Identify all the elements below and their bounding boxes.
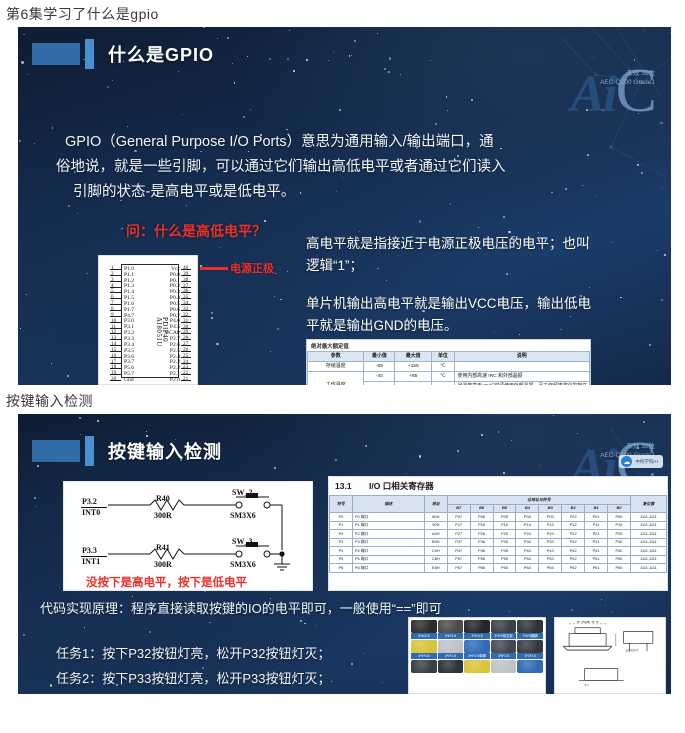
register-cell: P07: [447, 513, 470, 522]
tactile-switch-photo: [464, 640, 490, 653]
datasheet-cell: +85: [395, 372, 432, 382]
chip-pin-lead: [110, 298, 121, 299]
drawing-svg: 4.7 安装孔尺寸 6.1: [555, 618, 665, 693]
register-cell: P6 端口: [352, 564, 424, 573]
register-cell: P25: [493, 530, 516, 539]
product-photo-caption: 3*6*2.5: [491, 653, 517, 659]
register-cell: P16: [470, 521, 493, 530]
product-photo-cell: 3*6*2.5: [491, 640, 517, 659]
tactile-switch-photo: [517, 620, 543, 633]
datasheet-cell: -55: [364, 362, 395, 372]
chip-pin-lead: [110, 345, 121, 346]
chip-pin-number: 21: [183, 376, 188, 382]
svg-text:4.7: 4.7: [585, 620, 589, 624]
register-cell: P06: [470, 513, 493, 522]
register-cell: P1 端口: [352, 521, 424, 530]
chip-pin-lead: [181, 287, 191, 288]
product-photo-caption: 4*4*1.5: [438, 653, 464, 659]
logo-text-c: C: [616, 57, 657, 125]
register-cell: P32: [562, 538, 585, 547]
register-cell: P13: [539, 521, 562, 530]
table-row: P1P1 端口90HP17P16P15P14P13P12P11P101111,1…: [330, 521, 667, 530]
switch-mechanical-drawing: 4.7 安装孔尺寸 6.1: [554, 617, 666, 694]
chip-pin-lead: [181, 374, 191, 375]
logo-subtitle-1: 车规 32位: [626, 69, 655, 78]
chip-pin-lead: [181, 298, 191, 299]
register-bit-header-cell: B3: [539, 504, 562, 513]
register-cell: A0H: [424, 530, 447, 539]
register-cell: P66: [470, 564, 493, 573]
chip-pin-lead: [181, 328, 191, 329]
register-cell: P6: [330, 564, 353, 573]
chip-pin-number: 20: [111, 376, 116, 382]
product-photo-cell: 3*6*3.5: [438, 620, 464, 639]
table-row: P0P0 端口80HP07P06P05P04P03P02P01P001111,1…: [330, 513, 667, 522]
register-cell: P5: [330, 555, 353, 564]
absolute-maximum-ratings-card: 绝对最大额定值 参数最小值最大值单位说明 存储温度-55+155℃工作温度-40…: [306, 339, 591, 385]
product-photo-caption: 3*6*5带支架: [491, 633, 517, 639]
register-cell: P57: [447, 555, 470, 564]
chip-pin-lead: [181, 292, 191, 293]
register-cell: P15: [493, 521, 516, 530]
register-cell: P63: [539, 564, 562, 573]
product-photo-caption: 3*6x2.5: [411, 633, 437, 639]
product-photo-cell: 4*4*0.8: [411, 640, 437, 659]
datasheet-header-cell: 最小值: [364, 352, 395, 362]
chip-pin-lead: [181, 351, 191, 352]
power-positive-arrow-icon: [200, 267, 228, 270]
chip-pinout-diagram: AI8051U PDIP40 1P1.02P1.13P1.24P1.35P1.4…: [98, 255, 198, 385]
register-cell: P01: [585, 513, 608, 522]
register-col-addr: 地址: [424, 496, 447, 513]
chip-pin-lead: [181, 380, 191, 381]
register-cell: 1111,1111: [630, 538, 666, 547]
datasheet-header-cell: 说明: [454, 352, 589, 362]
chip-pin-lead: [110, 304, 121, 305]
register-cell: P2: [330, 530, 353, 539]
title-tile-small-icon: [85, 39, 94, 69]
datasheet-table-title: 绝对最大额定值: [307, 340, 590, 351]
register-bit-header-cell: B2: [562, 504, 585, 513]
register-cell: P02: [562, 513, 585, 522]
product-photo-cell: [517, 660, 543, 673]
product-photo-cell: 4*4*1.5: [438, 640, 464, 659]
chip-pin-lead: [110, 368, 121, 369]
watermark-badge: ☁ 中构学院A+: [619, 455, 663, 468]
register-table-body: P0P0 端口80HP07P06P05P04P03P02P01P001111,1…: [330, 513, 667, 573]
slide-2-title: 按键输入检测: [108, 438, 222, 464]
chip-pin-lead: [110, 363, 121, 364]
datasheet-cell: 使用内部高速 IRC 和外部晶振: [454, 372, 589, 382]
tactile-switch-photo: [491, 640, 517, 653]
register-cell: P05: [493, 513, 516, 522]
title-tile-large-icon-2: [32, 440, 80, 462]
register-cell: P3: [330, 538, 353, 547]
product-photo-cell: [438, 660, 464, 673]
register-cell: P67: [447, 564, 470, 573]
register-cell: 1111,1111: [630, 564, 666, 573]
chip-pin-lead: [181, 333, 191, 334]
tactile-switch-photo: [491, 620, 517, 633]
datasheet-cell: 存储温度: [308, 362, 364, 372]
chip-pin-lead: [110, 380, 121, 381]
register-cell: P21: [585, 530, 608, 539]
register-cell: P33: [539, 538, 562, 547]
product-photo-cell: 3*4*2.5: [517, 640, 543, 659]
register-cell: P40: [608, 547, 631, 556]
register-cell: P64: [516, 564, 539, 573]
register-cell: P44: [516, 547, 539, 556]
circuit-level-note: 没按下是高电平，按下是低电平: [86, 574, 247, 590]
circuit-port-2: P3.3: [82, 546, 97, 555]
datasheet-header-cell: 单位: [432, 352, 455, 362]
register-cell: P04: [516, 513, 539, 522]
datasheet-body: 存储温度-55+155℃工作温度-40+85℃使用内部高速 IRC 和外部晶振-…: [308, 362, 590, 386]
slide-2-title-row: 按键输入检测: [32, 436, 222, 466]
register-cell: P22: [562, 530, 585, 539]
chip-pin-lead: [181, 269, 191, 270]
datasheet-cell: [454, 362, 589, 372]
tactile-switch-photo: [438, 640, 464, 653]
register-cell: P3 端口: [352, 538, 424, 547]
register-cell: 80H: [424, 513, 447, 522]
chip-pin-name: P2.0: [161, 377, 180, 383]
register-cell: P62: [562, 564, 585, 573]
product-photo-caption: 3*6*4.5: [464, 633, 490, 639]
io-register-table: 符号 描述 地址 位地址与符号 复位值 B7B6B5B4B3B2B1B0 P0P…: [329, 495, 667, 573]
register-cell: 1111,1111: [630, 555, 666, 564]
datasheet-cell: +155: [395, 362, 432, 372]
chip-pin-lead: [181, 281, 191, 282]
product-photo-cell: [464, 660, 490, 673]
cloud-icon: ☁: [621, 456, 632, 467]
datasheet-cell: ℃: [432, 382, 455, 386]
task-line-1: 任务1：按下P32按钮灯亮，松开P32按钮灯灭；: [56, 641, 331, 666]
circuit-switch-2-part: SM3X6: [230, 560, 256, 569]
register-header-row-1: 符号 描述 地址 位地址与符号 复位值: [330, 496, 667, 505]
register-cell: P43: [539, 547, 562, 556]
register-cell: P50: [608, 555, 631, 564]
svg-text:6.1: 6.1: [585, 683, 589, 687]
register-cell: 90H: [424, 521, 447, 530]
register-bit-header-cell: B0: [608, 504, 631, 513]
table-row: P6P6 端口E8HP67P66P65P64P63P62P61P601111,1…: [330, 564, 667, 573]
logo-text-ai: Ai: [571, 66, 616, 123]
register-col-symbol: 符号: [330, 496, 353, 513]
tactile-switch-photo: [411, 660, 437, 673]
datasheet-cell: 工作温度: [308, 372, 364, 386]
chip-pin-lead: [110, 374, 121, 375]
register-cell: P30: [608, 538, 631, 547]
register-bit-header-cell: B7: [447, 504, 470, 513]
register-cell: P55: [493, 555, 516, 564]
tactile-switch-photo: [491, 660, 517, 673]
slide-key-input: AiC 车规 32位 AEC-Q100 Grade1 ☁ 中构学院A+ 按键输入…: [18, 414, 671, 694]
circuit-resistor-2-ref: R41: [156, 543, 170, 552]
register-col-desc: 描述: [352, 496, 424, 513]
table-row: P4P4 端口C0HP47P46P45P44P43P42P41P401111,1…: [330, 547, 667, 556]
chip-pin-lead: [181, 363, 191, 364]
vcc-gnd-explanation-line-1: 单片机输出高电平就是输出VCC电压，输出低电: [306, 293, 591, 315]
chip-pin-lead: [181, 304, 191, 305]
chip-pin-lead: [181, 310, 191, 311]
register-cell: P42: [562, 547, 585, 556]
datasheet-cell: 当温度高于 85℃时请使用外部晶振，且工作频率建议控制在 24M 以下: [454, 382, 589, 386]
chip-pin-lead: [110, 339, 121, 340]
register-col-bitgroup: 位地址与符号: [447, 496, 630, 505]
register-cell: P4: [330, 547, 353, 556]
register-bit-header-cell: B5: [493, 504, 516, 513]
table-row: P5P5 端口C8HP57P56P55P54P53P52P51P501111,1…: [330, 555, 667, 564]
tactile-switch-photo: [464, 660, 490, 673]
register-cell: 1111,1111: [630, 513, 666, 522]
register-cell: P03: [539, 513, 562, 522]
table-row: 存储温度-55+155℃: [308, 362, 590, 372]
register-cell: P37: [447, 538, 470, 547]
chip-pin-lead: [181, 345, 191, 346]
register-cell: B0H: [424, 538, 447, 547]
chip-pin-lead: [110, 333, 121, 334]
product-photo-cell: 3*6*2.5单脚: [464, 640, 490, 659]
chip-pin-lead: [181, 368, 191, 369]
svg-text:安装孔尺寸: 安装孔尺寸: [626, 648, 639, 652]
product-grid: 3*6x2.53*6*3.53*6*4.53*6*5带支架3*6*5圆脚4*4*…: [409, 618, 545, 675]
register-cell: P61: [585, 564, 608, 573]
register-cell: C0H: [424, 547, 447, 556]
register-section-title: I/O 口相关寄存器: [369, 481, 434, 491]
gpio-question: 问：什么是高低电平？: [126, 221, 266, 241]
register-bit-header-cell: B1: [585, 504, 608, 513]
chip-pin-name: Gnd: [124, 377, 134, 383]
gpio-body-line-3: 引脚的状态-是高电平或是低电平。: [73, 180, 295, 205]
key-circuit-schematic: P3.2 INT0 R40 300R SW_2 SM3X6: [63, 481, 313, 591]
gpio-body-line-2: 俗地说，就是一些引脚，可以通过它们输出高低电平或者通过它们读入: [56, 155, 506, 180]
datasheet-header-row: 参数最小值最大值单位说明: [308, 352, 590, 362]
register-bit-header-cell: B4: [516, 504, 539, 513]
register-cell: P12: [562, 521, 585, 530]
network-lines-decoration: [411, 27, 671, 207]
title-tile-large-icon: [32, 43, 80, 65]
high-level-explanation-line-1: 高电平就是指接近于电源正极电压的电平；也叫: [306, 233, 590, 255]
register-cell: 1111,1111: [630, 521, 666, 530]
register-cell: P1: [330, 521, 353, 530]
chip-pin-lead: [110, 357, 121, 358]
tactile-switch-photo: [411, 620, 437, 633]
register-cell: P31: [585, 538, 608, 547]
product-photo-cell: [411, 660, 437, 673]
tactile-switch-photo-grid: 3*6x2.53*6*3.53*6*4.53*6*5带支架3*6*5圆脚4*4*…: [408, 617, 546, 694]
slide-1-title: 什么是GPIO: [108, 41, 214, 67]
product-photo-caption: 4*4*0.8: [411, 653, 437, 659]
datasheet-cell: ℃: [432, 372, 455, 382]
register-section-heading: 13.1I/O 口相关寄存器: [329, 477, 667, 495]
high-level-explanation-line-2: 逻辑“1”；: [306, 255, 363, 277]
table-row: 工作温度-40+85℃使用内部高速 IRC 和外部晶振: [308, 372, 590, 382]
chip-pin-lead: [181, 322, 191, 323]
chip-pin-lead: [110, 351, 121, 352]
slide-gpio: AiC 车规 32位 AEC-Q100 Grade1 什么是GPIO GPIO（…: [18, 27, 671, 385]
register-cell: 1111,1111: [630, 530, 666, 539]
product-photo-cell: 3*6*4.5: [464, 620, 490, 639]
datasheet-table: 参数最小值最大值单位说明 存储温度-55+155℃工作温度-40+85℃使用内部…: [307, 351, 590, 385]
register-cell: P2 端口: [352, 530, 424, 539]
circuit-switch-2-ref: SW_3: [232, 537, 252, 546]
register-cell: P20: [608, 530, 631, 539]
register-cell: P52: [562, 555, 585, 564]
product-photo-cell: 3*6*5带支架: [491, 620, 517, 639]
logo-subtitle-3: 车规 32位: [626, 442, 655, 451]
register-cell: P4 端口: [352, 547, 424, 556]
datasheet-cell: ℃: [432, 362, 455, 372]
power-positive-label: 电源正极: [230, 260, 274, 276]
register-cell: P5 端口: [352, 555, 424, 564]
datasheet-cell: +125: [395, 382, 432, 386]
tactile-switch-photo: [411, 640, 437, 653]
register-cell: P53: [539, 555, 562, 564]
tactile-switch-photo: [438, 620, 464, 633]
circuit-resistor-2-value: 300R: [154, 560, 172, 569]
product-photo-cell: [491, 660, 517, 673]
register-cell: P41: [585, 547, 608, 556]
chip-pin-lead: [181, 275, 191, 276]
register-col-reset: 复位值: [630, 496, 666, 513]
chip-pin-lead: [181, 339, 191, 340]
section-2-caption: 按键输入检测: [0, 385, 685, 414]
register-cell: P35: [493, 538, 516, 547]
task-line-2: 任务2：按下P33按钮灯亮，松开P33按钮灯灭；: [56, 666, 331, 691]
register-cell: P0 端口: [352, 513, 424, 522]
register-cell: P26: [470, 530, 493, 539]
product-photo-caption: 3*6*5圆脚: [517, 633, 543, 639]
section-1-caption: 第6集学习了什么是gpio: [0, 0, 685, 27]
register-cell: P23: [539, 530, 562, 539]
register-cell: P27: [447, 530, 470, 539]
register-cell: P65: [493, 564, 516, 573]
logo-subtitle-2: AEC-Q100 Grade1: [600, 78, 655, 87]
register-cell: P11: [585, 521, 608, 530]
register-cell: P0: [330, 513, 353, 522]
io-register-table-card: 13.1I/O 口相关寄存器 符号 描述 地址 位地址与符号 复位值 B7B6B…: [328, 476, 668, 591]
product-photo-caption: 3*6*2.5单脚: [464, 653, 490, 659]
product-photo-caption: 3*4*2.5: [517, 653, 543, 659]
register-section-number: 13.1: [335, 481, 369, 491]
code-principle-text: 代码实现原理：程序直接读取按键的IO的电平即可，一般使用“==”即可: [40, 596, 442, 621]
register-cell: P60: [608, 564, 631, 573]
chip-pin-lead: [110, 316, 121, 317]
register-cell: 1111,1111: [630, 547, 666, 556]
register-cell: P34: [516, 538, 539, 547]
chip-pin-lead: [110, 310, 121, 311]
register-cell: P00: [608, 513, 631, 522]
register-cell: P10: [608, 521, 631, 530]
title-tile-small-icon-2: [85, 436, 94, 466]
register-cell: E8H: [424, 564, 447, 573]
register-cell: P51: [585, 555, 608, 564]
tactile-switch-photo: [517, 640, 543, 653]
watermark-text: 中构学院A+: [635, 459, 659, 465]
tactile-switch-photo: [464, 620, 490, 633]
register-cell: P14: [516, 521, 539, 530]
chip-pin-lead: [110, 287, 121, 288]
register-cell: P46: [470, 547, 493, 556]
product-photo-caption: 3*6*3.5: [438, 633, 464, 639]
register-cell: P56: [470, 555, 493, 564]
register-bit-header-cell: B6: [470, 504, 493, 513]
gpio-body-line-1: GPIO（General Purpose I/O Ports）意思为通用输入/输…: [65, 130, 494, 155]
chip-pin-lead: [110, 328, 121, 329]
register-cell: P54: [516, 555, 539, 564]
register-cell: P45: [493, 547, 516, 556]
datasheet-cell: -40: [364, 382, 395, 386]
chip-pin-lead: [110, 322, 121, 323]
chip-pin-lead: [110, 281, 121, 282]
tactile-switch-photo: [517, 660, 543, 673]
table-row: P2P2 端口A0HP27P26P25P24P23P22P21P201111,1…: [330, 530, 667, 539]
circuit-int-2: INT1: [82, 557, 100, 566]
chip-pin-lead: [110, 275, 121, 276]
product-photo-cell: 3*6x2.5: [411, 620, 437, 639]
register-cell: P17: [447, 521, 470, 530]
datasheet-header-cell: 最大值: [395, 352, 432, 362]
chip-pin-lead: [181, 316, 191, 317]
vcc-gnd-explanation-line-2: 平就是输出GND的电压。: [306, 315, 458, 337]
chip-pin-lead: [110, 269, 121, 270]
register-cell: C8H: [424, 555, 447, 564]
register-cell: P47: [447, 547, 470, 556]
chip-pin-lead: [110, 292, 121, 293]
brand-logo: AiC 车规 32位 AEC-Q100 Grade1: [571, 65, 658, 121]
tactile-switch-photo: [438, 660, 464, 673]
register-cell: P24: [516, 530, 539, 539]
datasheet-cell: -40: [364, 372, 395, 382]
product-photo-cell: 3*6*5圆脚: [517, 620, 543, 639]
chip-pin-lead: [181, 357, 191, 358]
table-row: P3P3 端口B0HP37P36P35P34P33P32P31P301111,1…: [330, 538, 667, 547]
register-cell: P36: [470, 538, 493, 547]
slide-1-title-row: 什么是GPIO: [32, 39, 214, 69]
datasheet-header-cell: 参数: [308, 352, 364, 362]
